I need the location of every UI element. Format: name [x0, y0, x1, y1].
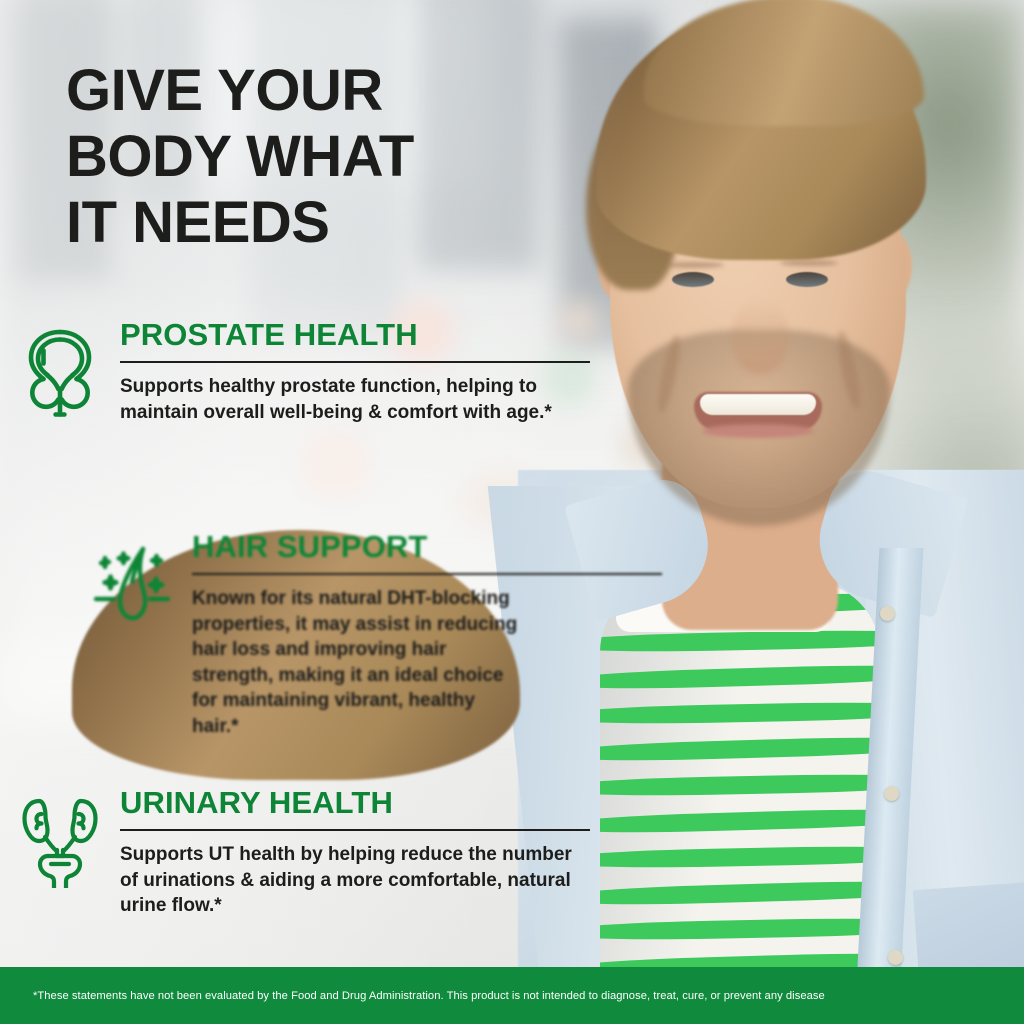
feature-description: Supports healthy prostate function, help… — [120, 374, 590, 425]
page-title: GIVE YOUR BODY WHAT IT NEEDS — [66, 58, 586, 256]
feature-title: PROSTATE HEALTH — [120, 318, 620, 352]
content-layer: GIVE YOUR BODY WHAT IT NEEDS — [0, 0, 1024, 1024]
promo-banner: GIVE YOUR BODY WHAT IT NEEDS — [0, 0, 1024, 1024]
kidneys-bladder-icon — [14, 792, 106, 888]
feature-divider — [120, 829, 590, 831]
headline-line-1: GIVE YOUR — [66, 58, 586, 124]
prostate-bladder-icon — [14, 324, 106, 420]
feature-description: Supports UT health by helping reduce the… — [120, 842, 590, 919]
feature-divider — [192, 573, 662, 575]
headline-line-3: IT NEEDS — [66, 190, 586, 256]
feature-description: Known for its natural DHT-blocking prope… — [192, 586, 520, 739]
feature-hair-support: HAIR SUPPORT Known for its natural DHT-b… — [72, 530, 520, 780]
feature-title: HAIR SUPPORT — [192, 530, 520, 564]
feature-urinary-health: URINARY HEALTH Supports UT health by hel… — [0, 786, 620, 966]
feature-divider — [120, 361, 590, 363]
disclaimer-bar: *These statements have not been evaluate… — [0, 967, 1024, 1024]
hair-follicle-icon — [86, 536, 178, 632]
feature-list: PROSTATE HEALTH Supports healthy prostat… — [0, 318, 620, 974]
headline-line-2: BODY WHAT — [66, 124, 586, 190]
feature-title: URINARY HEALTH — [120, 786, 620, 820]
feature-prostate-health: PROSTATE HEALTH Supports healthy prostat… — [0, 318, 620, 498]
disclaimer-text: *These statements have not been evaluate… — [33, 989, 825, 1003]
